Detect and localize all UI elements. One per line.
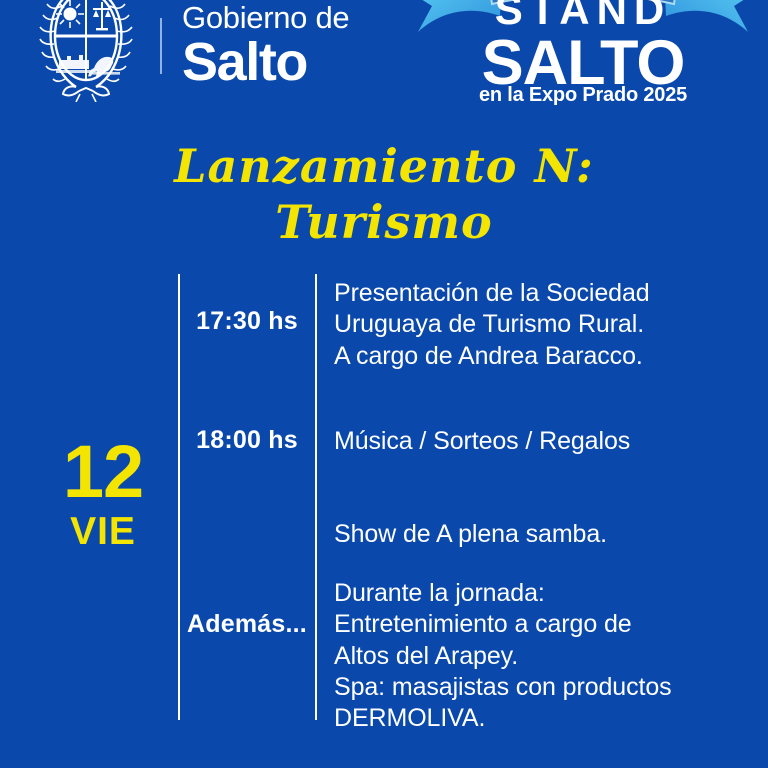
title-line-1: Lanzamiento N: bbox=[0, 138, 768, 194]
title-line-2: Turismo bbox=[0, 194, 768, 250]
event-poster: Gobierno de Salto bbox=[0, 0, 768, 768]
schedule-description: Presentación de la Sociedad Uruguaya de … bbox=[334, 278, 746, 372]
government-branding: Gobierno de Salto bbox=[34, 0, 349, 102]
schedule-description-line: Altos del Arapey. bbox=[334, 641, 746, 672]
date-day-number: 12 bbox=[48, 438, 158, 506]
schedule-time: Además... bbox=[186, 610, 308, 639]
government-name: Gobierno de Salto bbox=[182, 2, 349, 89]
brand-divider bbox=[160, 18, 162, 74]
schedule-description-line: Durante la jornada: bbox=[334, 578, 746, 609]
schedule-description: Durante la jornada: Entretenimiento a ca… bbox=[334, 578, 746, 734]
gov-line-2: Salto bbox=[182, 35, 349, 89]
schedule-list: 17:30 hs Presentación de la Sociedad Uru… bbox=[186, 274, 746, 724]
schedule-description-line: DERMOLIVA. bbox=[334, 703, 746, 734]
gov-line-1: Gobierno de bbox=[182, 2, 349, 33]
poster-header: Gobierno de Salto bbox=[0, 0, 768, 125]
schedule-description-line: Uruguaya de Turismo Rural. bbox=[334, 309, 746, 340]
schedule-time: 18:00 hs bbox=[186, 426, 308, 455]
uruguay-coat-of-arms-icon bbox=[34, 0, 138, 102]
page-title: Lanzamiento N: Turismo bbox=[0, 138, 768, 250]
schedule-description: Show de A plena samba. bbox=[334, 519, 746, 550]
schedule-description-line: A cargo de Andrea Baracco. bbox=[334, 341, 746, 372]
stand-salto-logo: STAND SALTO en la Expo Prado 2025 bbox=[398, 0, 768, 125]
schedule-description-line: Spa: masajistas con productos bbox=[334, 672, 746, 703]
schedule-description-line: Entretenimiento a cargo de bbox=[334, 609, 746, 640]
schedule-description-line: Show de A plena samba. bbox=[334, 519, 746, 550]
schedule-description: Música / Sorteos / Regalos bbox=[334, 426, 746, 457]
schedule-description-line: Música / Sorteos / Regalos bbox=[334, 426, 746, 457]
expo-subtitle: en la Expo Prado 2025 bbox=[398, 84, 768, 107]
date-weekday: VIE bbox=[48, 510, 158, 554]
schedule-time: 17:30 hs bbox=[186, 307, 308, 336]
schedule-divider-left bbox=[178, 274, 180, 720]
event-date: 12 VIE bbox=[48, 438, 158, 554]
schedule-description-line: Presentación de la Sociedad bbox=[334, 278, 746, 309]
